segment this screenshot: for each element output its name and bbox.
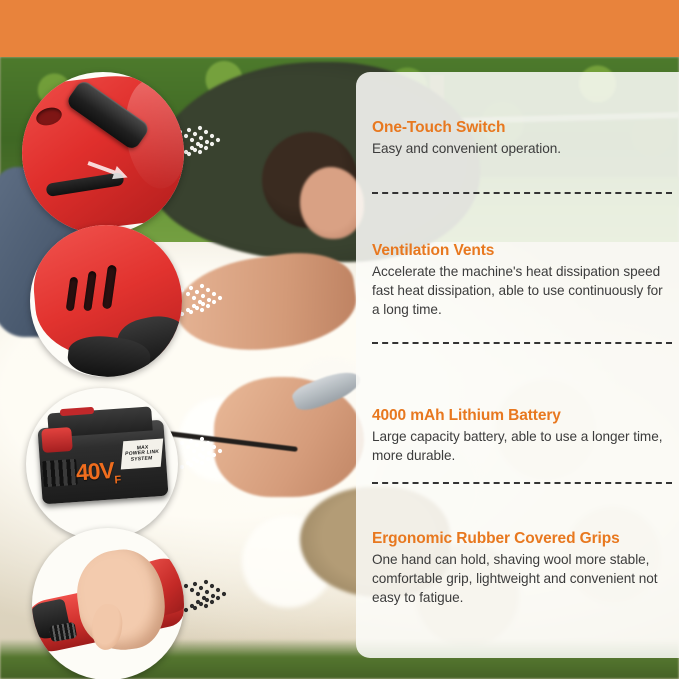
feature-title: One-Touch Switch [372, 119, 672, 137]
callout-lithium-battery: 40VF MAX POWER LINK SYSTEM [26, 388, 178, 540]
feature-description: One hand can hold, shaving wool more sta… [372, 550, 672, 607]
feature-title: Ergonomic Rubber Covered Grips [372, 530, 672, 548]
chevron-arrow-icon-1 [176, 124, 236, 164]
feature-divider [372, 192, 672, 194]
chevron-arrow-icon-2 [178, 282, 238, 322]
callout-one-touch-switch [22, 72, 184, 234]
feature-divider [372, 342, 672, 344]
chevron-arrow-icon-4 [182, 578, 242, 618]
battery-label-line-3: SYSTEM [130, 456, 152, 463]
battery-voltage-text: 40VF [75, 457, 121, 490]
feature-title: Ventilation Vents [372, 242, 672, 260]
feature-item-ergonomic-grips: Ergonomic Rubber Covered Grips One hand … [372, 530, 672, 607]
battery-voltage-value: 40V [75, 457, 115, 486]
feature-divider [372, 482, 672, 484]
feature-title: 4000 mAh Lithium Battery [372, 407, 672, 425]
feature-item-lithium-battery: 4000 mAh Lithium Battery Large capacity … [372, 407, 672, 465]
shearer-face [300, 167, 364, 239]
product-detail-infographic: 40VF MAX POWER LINK SYSTEM One-Touch Swi… [0, 0, 679, 679]
battery-release-latch [41, 427, 73, 453]
features-panel: One-Touch Switch Easy and convenient ope… [356, 72, 679, 658]
callout-ventilation-vents [30, 225, 182, 377]
feature-item-one-touch-switch: One-Touch Switch Easy and convenient ope… [372, 119, 672, 158]
battery-vent-fins [42, 459, 78, 487]
header-bar [0, 0, 679, 57]
feature-item-ventilation-vents: Ventilation Vents Accelerate the machine… [372, 242, 672, 319]
chevron-arrow-icon-3 [178, 435, 238, 475]
feature-description: Easy and convenient operation. [372, 139, 672, 158]
callout-rubber-grip [32, 528, 184, 679]
battery-voltage-subscript: F [114, 474, 121, 486]
feature-description: Accelerate the machine's heat dissipatio… [372, 262, 672, 319]
feature-description: Large capacity battery, able to use a lo… [372, 427, 672, 465]
battery-system-label: MAX POWER LINK SYSTEM [121, 438, 163, 469]
